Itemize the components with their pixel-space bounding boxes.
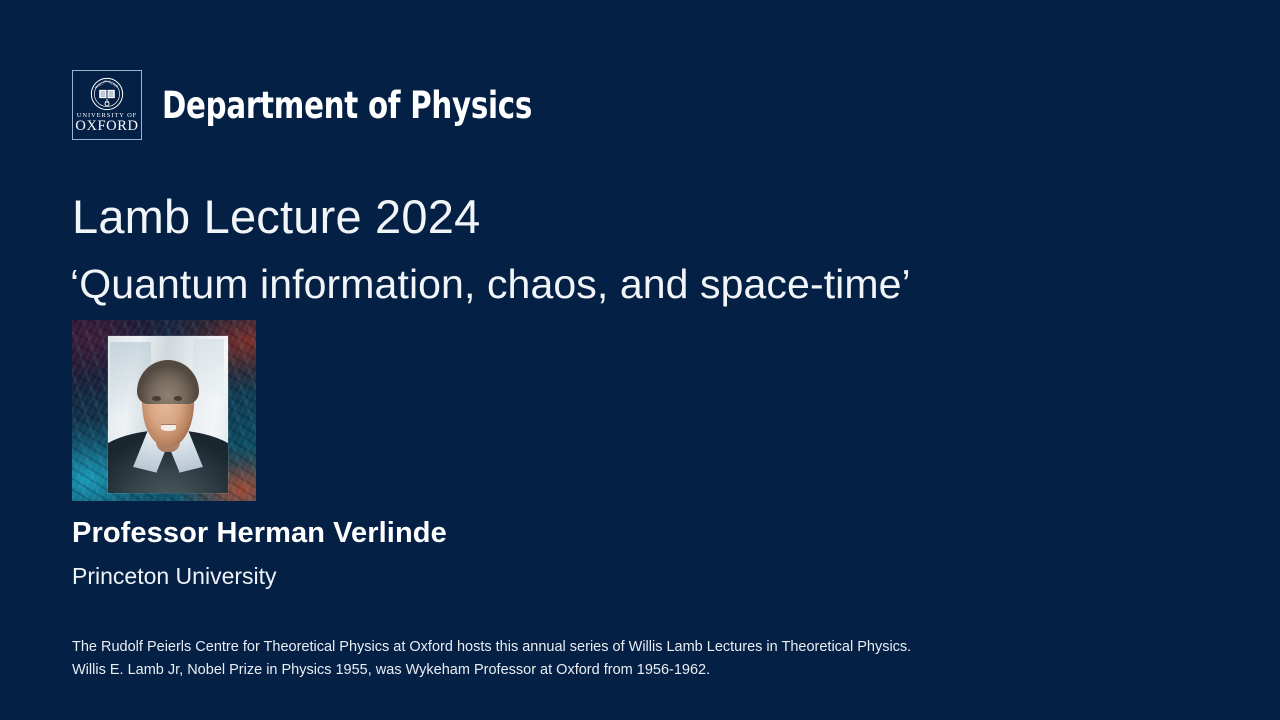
photo-figure-eye-right bbox=[174, 396, 182, 401]
lecture-subtitle: ‘Quantum information, chaos, and space-t… bbox=[70, 261, 911, 308]
speaker-affiliation: Princeton University bbox=[72, 563, 277, 590]
svg-text:OXONIE: OXONIE bbox=[107, 79, 119, 88]
lecture-title: Lamb Lecture 2024 bbox=[72, 189, 480, 244]
footer-line-2: Willis E. Lamb Jr, Nobel Prize in Physic… bbox=[72, 659, 911, 682]
speaker-photo bbox=[108, 336, 228, 493]
oxford-university-logo: SIGILLVM OXONIE UNIVERSITY OF OXFORD bbox=[72, 70, 142, 140]
speaker-portrait-frame bbox=[72, 320, 256, 501]
department-title: Department of Physics bbox=[162, 84, 532, 127]
photo-figure-mouth bbox=[161, 425, 177, 430]
lecture-announcement-slide: SIGILLVM OXONIE UNIVERSITY OF OXFORD Dep… bbox=[0, 0, 1280, 720]
oxford-crest-icon: SIGILLVM OXONIE bbox=[90, 77, 124, 111]
footer-line-1: The Rudolf Peierls Centre for Theoretica… bbox=[72, 636, 911, 659]
svg-text:SIGILLVM: SIGILLVM bbox=[94, 78, 108, 89]
speaker-name: Professor Herman Verlinde bbox=[72, 517, 447, 550]
photo-figure-eye-left bbox=[152, 396, 160, 401]
logo-oxford-wordmark: OXFORD bbox=[75, 119, 138, 135]
footer-note: The Rudolf Peierls Centre for Theoretica… bbox=[72, 636, 911, 682]
branding-header: SIGILLVM OXONIE UNIVERSITY OF OXFORD Dep… bbox=[72, 70, 583, 140]
